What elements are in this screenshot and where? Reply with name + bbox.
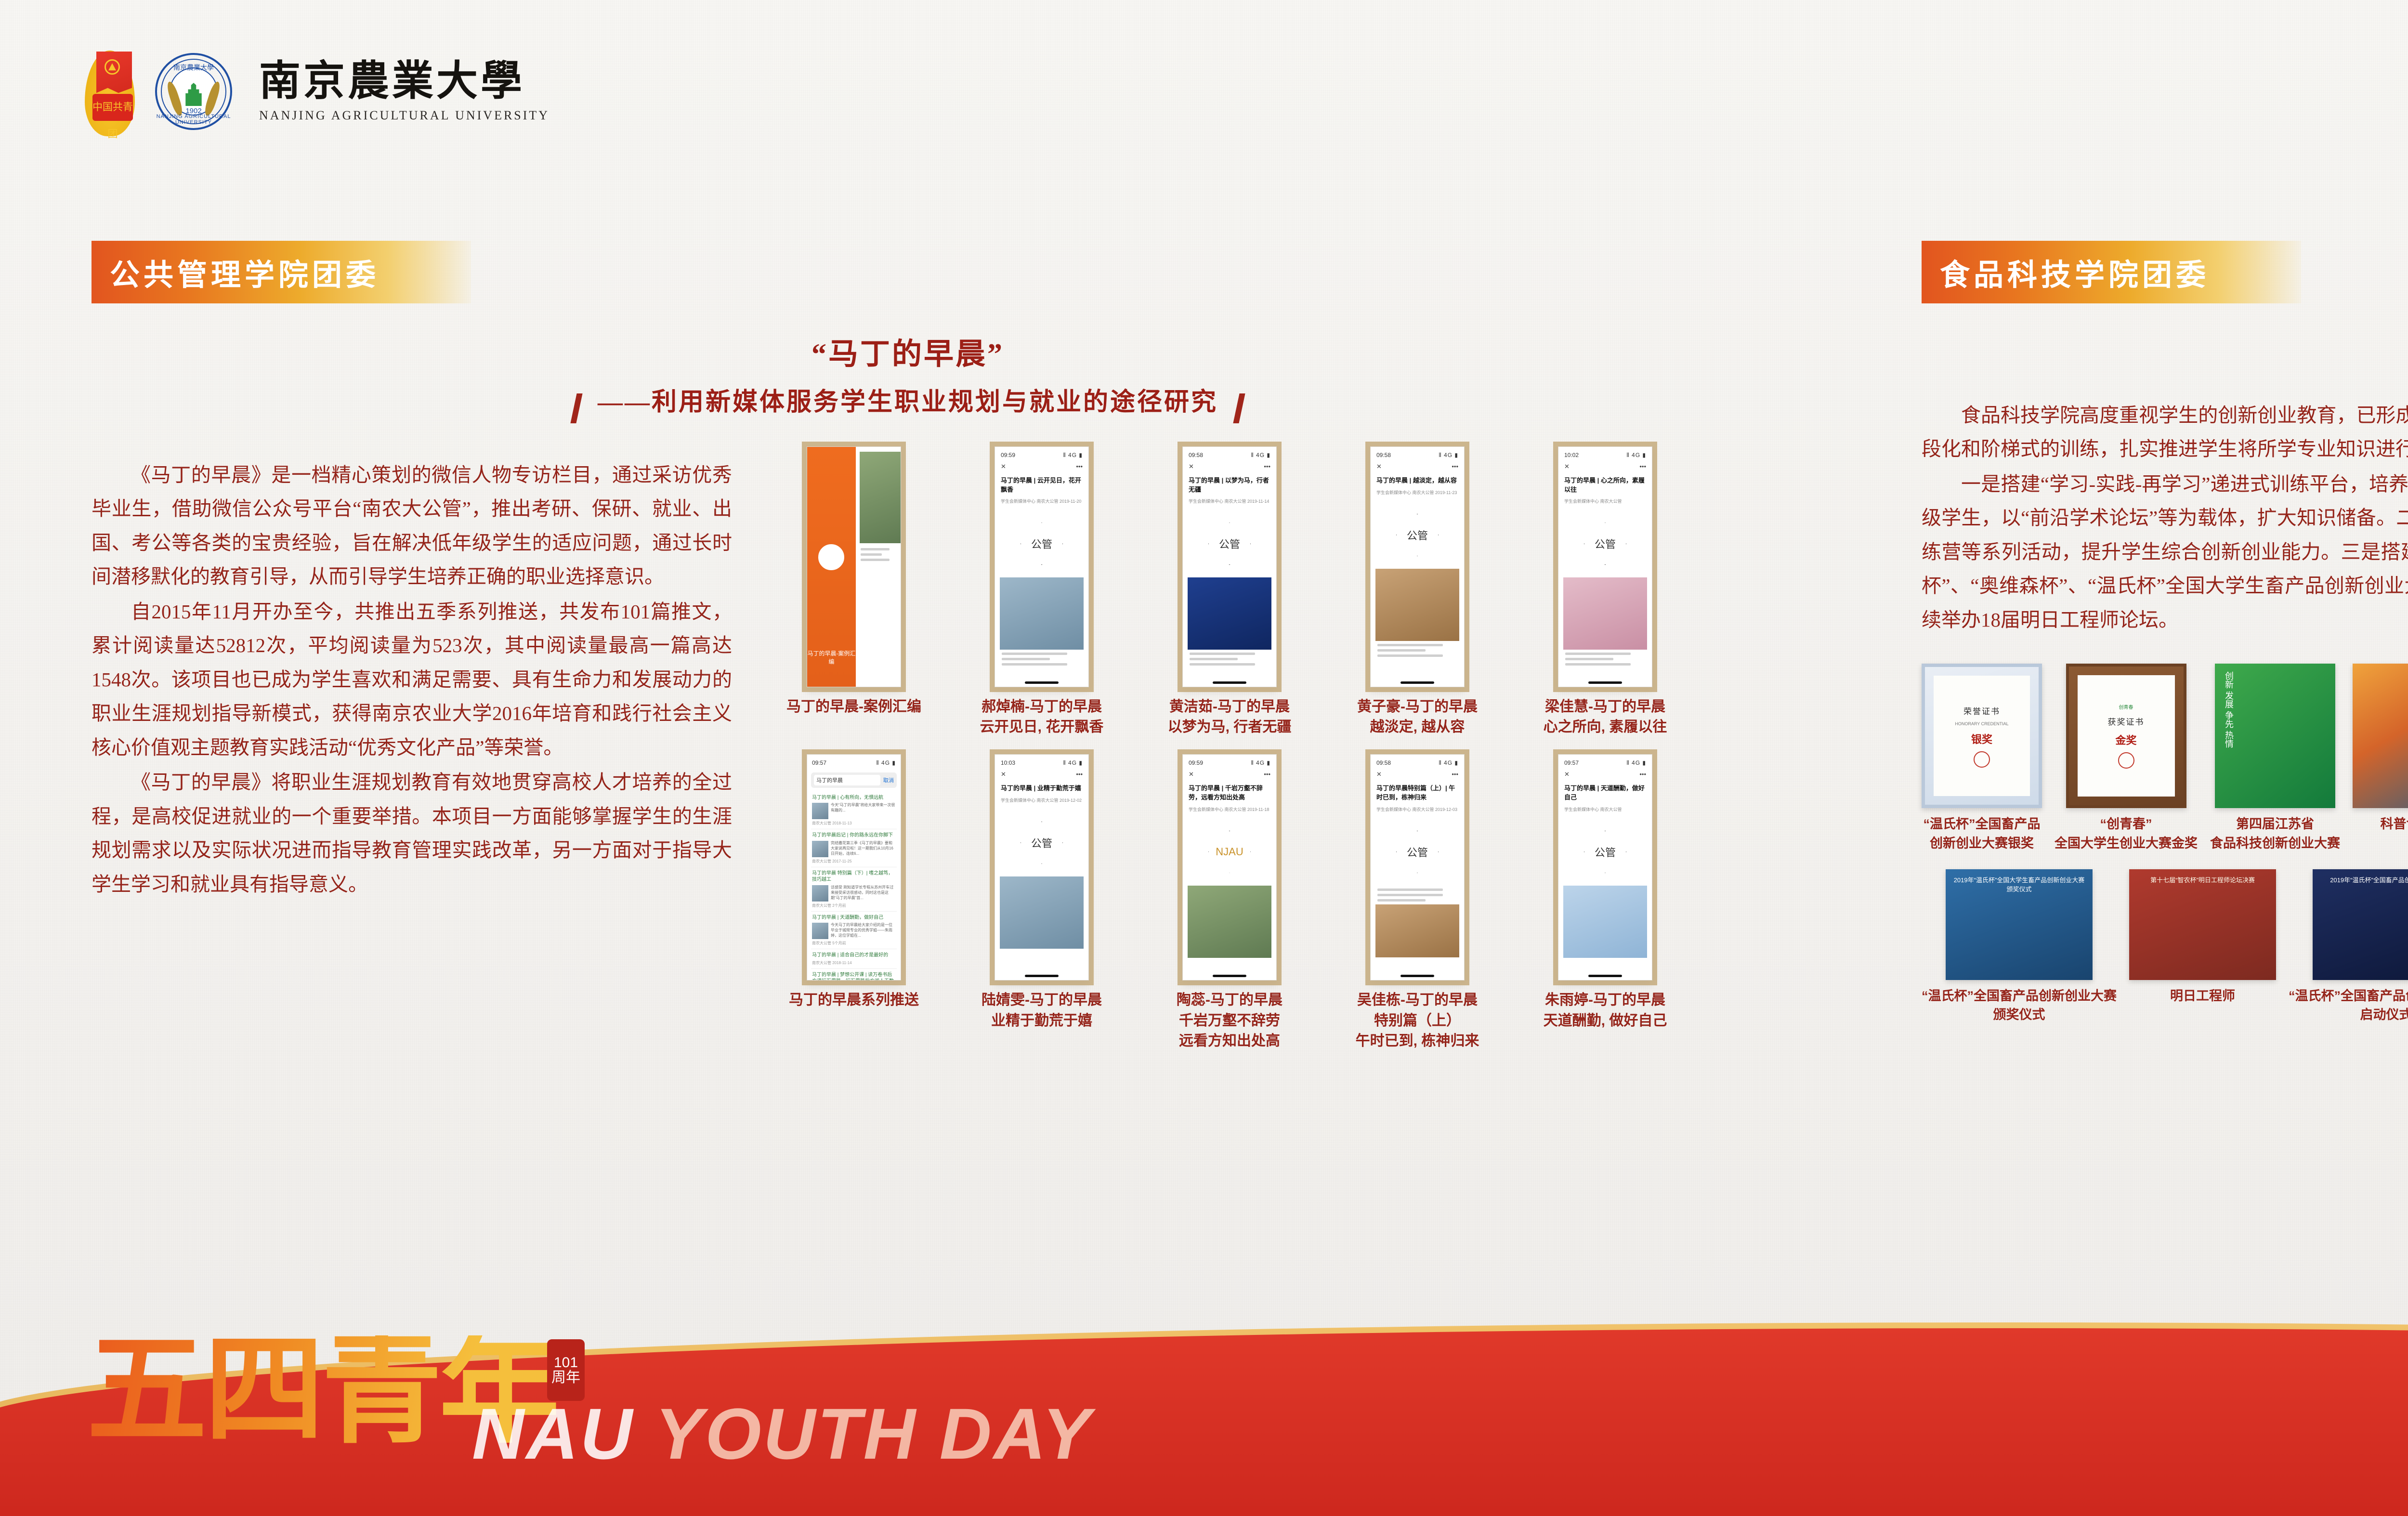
list-item-thumb [812,803,828,819]
certificate-subtitle: HONORARY CREDENTIAL [1955,721,2008,726]
article-title: 马丁的早晨 | 以梦为马，行者无疆 [1188,475,1271,498]
status-time: 10:03 [1001,759,1015,767]
article-meta: 学生会新媒体中心 南农大公管 2019-11-20 [1000,498,1084,510]
search-input[interactable]: 马丁的早晨 [814,775,880,785]
close-icon[interactable]: ✕ [1564,463,1570,470]
pic-caption: “温氏杯”全国畜产品创新创业大赛颁奖仪式 [1922,987,2117,1024]
phone-screenshot-article[interactable]: 09:58⦀ 4G ▮ ✕••• 马丁的早晨 | 以梦为马，行者无疆 学生会新媒… [1182,446,1277,687]
phone-screenshot-search-list[interactable]: 09:57⦀ 4G ▮ 马丁的早晨 取消 马丁的早晨 | 心有所向，无惧远航 今… [807,754,901,980]
shot-caption: 梁佳慧-马丁的早晨心之所向, 素履以往 [1544,697,1667,738]
signal-icon: ⦀ 4G ▮ [1626,759,1646,767]
backdrop-text: 创新 发展 争先 热情 [2215,664,2243,756]
list-item-thumb [812,923,828,939]
article-title: 马丁的早晨 | 越淡定，越从容 [1375,475,1459,489]
award-label: 银奖 [1971,731,1992,746]
status-time: 09:57 [1564,759,1579,767]
youth-day-en-dim: YOUTH DAY [655,1393,1092,1474]
right-title-block: “阶梯式”创新创业培育体系 [1922,329,2408,377]
list-item[interactable]: 马丁的早晨后记 | 你的路永远在你脚下 完结撒花第三季《马丁的早晨》要和大家说再… [811,829,897,867]
pic-cell[interactable]: 第十七届“智农杯”明日工程师论坛决赛 明日工程师 [2129,869,2276,1006]
right-paragraph: 一是搭建“学习-实践-再学习”递进式训练平台，培养双创意识。面向大一、大二的学生… [1922,467,2408,637]
home-indicator [1213,681,1246,684]
shot-cell[interactable]: 09:57⦀ 4G ▮ ✕••• 马丁的早晨 | 天道酬勤，做好自己 学生会新媒… [1511,754,1699,1031]
shot-cell[interactable]: 09:59⦀ 4G ▮ ✕••• 马丁的早晨 | 云开见日，花开飘香 学生会新媒… [948,446,1136,738]
left-gallery: 马丁的早晨-案例汇编 马丁的早晨-案例汇编 [760,438,1699,1052]
pic-caption: 明日工程师 [2170,987,2235,1006]
gongguan-logo-icon: 公管 [1000,510,1084,577]
list-item-thumb [812,841,828,857]
shot-caption: 吴佳栋-马丁的早晨特别篇（上）午时已到, 栋神归来 [1356,990,1479,1052]
home-indicator [1588,975,1622,977]
seal-top-text: 南京農業大學 [155,63,232,72]
status-time: 10:02 [1564,452,1579,459]
certificate-title: 获奖证书 [2108,715,2145,727]
backdrop-text: 2019年“温氏杯”全国大学生畜产品创新创业大赛颁奖仪式 [1946,869,2093,899]
list-item-title: 马丁的早晨 | 梦想公开课 | 读万卷书后方须行万里路，行万里路后方阅人无数 [812,972,896,980]
phone-screenshot-article[interactable]: 10:03⦀ 4G ▮ ✕••• 马丁的早晨 | 业精于勤荒于嬉 学生会新媒体中… [995,754,1089,980]
anniversary-badge: 101 周年 [547,1339,585,1401]
right-gallery: 荣誉证书 HONORARY CREDENTIAL 银奖 “温氏杯”全国畜产品创新… [1922,656,2408,1024]
stamp-icon [1974,751,1990,768]
event-photo[interactable]: 第十七届“智农杯”明日工程师论坛决赛 [2129,869,2276,980]
article-title: 马丁的早晨特别篇（上）| 午时已到，栋神归来 [1375,783,1459,806]
more-icon[interactable]: ••• [1452,771,1458,778]
list-item-title: 马丁的早晨后记 | 你的路永远在你脚下 [812,832,896,839]
phone-screenshot-article[interactable]: 09:59⦀ 4G ▮ ✕••• 马丁的早晨 | 云开见日，花开飘香 学生会新媒… [995,446,1089,687]
certificate-photo[interactable]: 创青春 获奖证书 金奖 [2066,664,2186,808]
list-item-desc: 访感受 刚知道学长专程从苏州开车过来接受采访很感动，同时这也是这期“马丁的早晨”… [831,885,896,902]
university-name-en: NANJING AGRICULTURAL UNIVERSITY [259,108,550,123]
phone-screenshot-cover[interactable]: 马丁的早晨-案例汇编 [807,446,901,687]
gongguan-logo-icon: 公管 [1375,818,1459,886]
pics-row-2: 2019年“温氏杯”全国大学生畜产品创新创业大赛颁奖仪式 “温氏杯”全国畜产品创… [1922,869,2408,1024]
article-meta: 学生会新媒体中心 南农大公管 2019-11-14 [1188,498,1271,510]
title-tick-right-icon [1233,393,1245,423]
list-item-title: 马丁的早晨 特别篇（下）| 嗜之越笃，技巧越工 [812,870,896,883]
search-cancel-button[interactable]: 取消 [883,776,894,784]
list-item-source: 南农大公管 2017-11-25 [812,859,896,864]
shot-cell[interactable]: 09:59⦀ 4G ▮ ✕••• 马丁的早晨 | 千岩万壑不辞劳，远看方知出处高… [1136,754,1323,1052]
close-icon[interactable]: ✕ [1376,463,1382,470]
phone-screenshot-article[interactable]: 09:57⦀ 4G ▮ ✕••• 马丁的早晨 | 天道酬勤，做好自己 学生会新媒… [1558,754,1652,980]
more-icon[interactable]: ••• [1264,463,1270,470]
pic-cell[interactable]: 创新 发展 争先 热情 第四届江苏省食品科技创新创业大赛 [2210,664,2340,852]
list-item-source: 南农大公管 5个月前 [812,941,896,946]
left-text-column: 《马丁的早晨》是一档精心策划的微信人物专访栏目，通过采访优秀毕业生，借助微信公众… [92,438,732,1052]
signal-icon: ⦀ 4G ▮ [1063,759,1083,767]
poster-header: 中国共青团 南京農業大學 1902 NANJING AGRICULTURAL U… [82,46,550,137]
anniversary-unit: 周年 [551,1370,580,1385]
list-item-desc: 今天“马丁的早晨”将给大家带来一次很有趣的... [831,803,896,819]
shot-caption: 朱雨婷-马丁的早晨天道酬勤, 做好自己 [1544,990,1667,1031]
shot-caption: 陶蕊-马丁的早晨千岩万壑不辞劳远看方知出处高 [1177,990,1283,1052]
stamp-icon [2118,752,2134,769]
youth-league-emblem-icon: 中国共青团 [82,46,139,137]
article-title: 马丁的早晨 | 心之所向，素履以往 [1563,475,1647,498]
status-time: 09:59 [1001,452,1015,459]
shot-cell[interactable]: 09:58⦀ 4G ▮ ✕••• 马丁的早晨 | 越淡定，越从容 学生会新媒体中… [1323,446,1511,738]
signal-icon: ⦀ 4G ▮ [1626,452,1646,459]
close-icon[interactable]: ✕ [1001,771,1006,778]
status-time: 09:58 [1376,759,1391,767]
certificate-brand: 创青春 [2119,703,2133,710]
left-paragraph: 《马丁的早晨》是一档精心策划的微信人物专访栏目，通过采访优秀毕业生，借助微信公众… [92,458,732,594]
anniversary-number: 101 [554,1355,578,1371]
list-item[interactable]: 马丁的早晨 | 梦想公开课 | 读万卷书后方须行万里路，行万里路后方阅人无数 [811,969,897,980]
close-icon[interactable]: ✕ [1189,771,1194,778]
left-title-block: “马丁的早晨” ——利用新媒体服务学生职业规划与就业的途径研究 [92,329,1724,423]
list-item-source: 南农大公管 2个月前 [812,903,896,908]
home-indicator [1400,975,1434,977]
gongguan-logo-icon: 公管 [1375,501,1459,569]
shot-caption: 马丁的早晨-案例汇编 [786,697,921,718]
pic-cell[interactable]: 创青春 获奖证书 金奖 “创青春”全国大学生创业大赛金奖 [2055,664,2198,852]
right-paragraph: 食品科技学院高度重视学生的创新创业教育，已形成了“阶梯式”创新创业培育体系，主要… [1922,398,2408,466]
article-title: 马丁的早晨 | 业精于勤荒于嬉 [1000,783,1084,797]
article-meta: 学生会新媒体中心 南农大公管 [1563,498,1647,510]
left-title-main: “马丁的早晨” [92,329,1724,373]
home-indicator [1025,681,1059,684]
list-item[interactable]: 马丁的早晨 | 天道酬勤，做好自己 今天马丁的早晨给大家介绍的是一位毕业于城规专… [811,912,897,950]
list-item-title: 马丁的早晨 | 心有所向，无惧远航 [812,795,896,801]
pics-row-1: 荣誉证书 HONORARY CREDENTIAL 银奖 “温氏杯”全国畜产品创新… [1922,664,2408,852]
list-item[interactable]: 马丁的早晨 特别篇（下）| 嗜之越笃，技巧越工 访感受 刚知道学长专程从苏州开车… [811,867,897,912]
pic-cell[interactable]: 荣誉证书 HONORARY CREDENTIAL 银奖 “温氏杯”全国畜产品创新… [1922,664,2042,852]
phone-screenshot-article[interactable]: 09:58⦀ 4G ▮ ✕••• 马丁的早晨特别篇（上）| 午时已到，栋神归来 … [1370,754,1465,980]
shot-cell[interactable]: 10:03⦀ 4G ▮ ✕••• 马丁的早晨 | 业精于勤荒于嬉 学生会新媒体中… [948,754,1136,1031]
article-title: 马丁的早晨 | 千岩万壑不辞劳，远看方知出处高 [1188,783,1271,806]
more-icon[interactable]: ••• [1639,463,1646,470]
article-meta: 学生会新媒体中心 南农大公管 2019-12-02 [1000,797,1084,809]
certificate-photo[interactable]: 荣誉证书 HONORARY CREDENTIAL 银奖 [1922,664,2042,808]
shots-row-2: 09:57⦀ 4G ▮ 马丁的早晨 取消 马丁的早晨 | 心有所向，无惧远航 今… [760,754,1699,1052]
search-bar[interactable]: 马丁的早晨 取消 [811,772,897,788]
close-icon[interactable]: ✕ [1001,463,1006,470]
article-meta: 学生会新媒体中心 南农大公管 2019-11-23 [1375,489,1459,501]
more-icon[interactable]: ••• [1076,463,1083,470]
shots-row-1: 马丁的早晨-案例汇编 马丁的早晨-案例汇编 [760,446,1699,738]
event-photo[interactable] [2353,664,2408,808]
status-time: 09:59 [1189,759,1203,767]
title-tick-left-icon [570,393,582,423]
home-indicator [1025,975,1059,977]
shot-cell[interactable]: 09:58⦀ 4G ▮ ✕••• 马丁的早晨 | 以梦为马，行者无疆 学生会新媒… [1136,446,1323,738]
right-section: 食品科技学院团委 “阶梯式”创新创业培育体系 食品科技学院高度重视学生的创新创业… [1922,241,2408,1024]
certificate-title: 荣誉证书 [1963,705,2000,717]
shot-cell[interactable]: 09:58⦀ 4G ▮ ✕••• 马丁的早晨特别篇（上）| 午时已到，栋神归来 … [1323,754,1511,1052]
award-label: 金奖 [2115,732,2136,747]
right-dept-banner: 食品科技学院团委 [1922,241,2301,303]
backdrop-text: 2019年“温氏杯”全国畜产品创新创业大赛 [2313,869,2408,890]
poster-canvas: 中国共青团 南京農業大學 1902 NANJING AGRICULTURAL U… [0,0,2408,1516]
home-indicator [1213,975,1246,977]
gongguan-logo-icon: 公管 [1563,818,1647,886]
article-meta: 学生会新媒体中心 南农大公管 2019-11-18 [1188,806,1271,818]
signal-icon: ⦀ 4G ▮ [876,759,896,767]
status-time: 09:58 [1376,452,1391,459]
signal-icon: ⦀ 4G ▮ [1251,452,1270,459]
shot-caption: 郝焯楠-马丁的早晨云开见日, 花开飘香 [980,697,1104,738]
status-time: 09:57 [812,759,826,767]
pic-caption: “创青春”全国大学生创业大赛金奖 [2055,815,2198,852]
phone-screenshot-article[interactable]: 10:02⦀ 4G ▮ ✕••• 马丁的早晨 | 心之所向，素履以往 学生会新媒… [1558,446,1652,687]
cover-label: 马丁的早晨-案例汇编 [807,649,856,666]
pic-cell[interactable]: 科普食话说 [2353,664,2408,834]
right-text-block: 食品科技学院高度重视学生的创新创业教育，已形成了“阶梯式”创新创业培育体系，主要… [1922,398,2408,637]
youth-day-logo: 五四青年 101 周年 NAU YOUTH DAY [87,1335,557,1444]
pic-caption: 第四届江苏省食品科技创新创业大赛 [2210,815,2340,852]
left-title-sub: ——利用新媒体服务学生职业规划与就业的途径研究 [598,381,1218,418]
event-photo[interactable]: 2019年“温氏杯”全国大学生畜产品创新创业大赛颁奖仪式 [1946,869,2093,980]
signal-icon: ⦀ 4G ▮ [1439,452,1458,459]
left-section: 公共管理学院团委 “马丁的早晨” ——利用新媒体服务学生职业规划与就业的途径研究… [92,241,1724,1052]
gongguan-logo-icon: 公管 [1000,809,1084,876]
phone-screenshot-article[interactable]: 09:58⦀ 4G ▮ ✕••• 马丁的早晨 | 越淡定，越从容 学生会新媒体中… [1370,446,1465,687]
home-indicator [1400,681,1434,684]
youth-day-en-bold: NAU [472,1393,634,1474]
youth-league-label: 中国共青团 [92,94,133,121]
pic-caption: “温氏杯”全国畜产品创新创业大赛银奖 [1924,815,2041,852]
more-icon[interactable]: ••• [1264,771,1270,778]
list-item-source: 南农大公管 2018-11-13 [812,821,896,826]
article-meta: 学生会新媒体中心 南农大公管 [1563,806,1647,818]
more-icon[interactable]: ••• [1452,463,1458,470]
home-indicator [1588,681,1622,684]
seal-bottom-text: NANJING AGRICULTURAL UNIVERSITY [155,114,232,125]
shot-cell[interactable]: 10:02⦀ 4G ▮ ✕••• 马丁的早晨 | 心之所向，素履以往 学生会新媒… [1511,446,1699,738]
list-item-desc: 完结撒花第三季《马丁的早晨》要和大家说再见啦！这一期我们从10月16日开始，连续… [831,841,896,857]
shot-caption: 陆婧雯-马丁的早晨业精于勤荒于嬉 [982,990,1102,1031]
list-item-title: 马丁的早晨 | 适合自己的才是最好的 [812,952,896,959]
university-name-cn: 南京農業大學 [259,60,550,103]
shot-caption: 马丁的早晨系列推送 [789,990,919,1011]
left-dept-banner: 公共管理学院团委 [92,241,471,303]
event-photo[interactable]: 创新 发展 争先 热情 [2215,664,2335,808]
more-icon[interactable]: ••• [1639,771,1646,778]
left-paragraph: 《马丁的早晨》将职业生涯规划教育有效地贯穿高校人才培养的全过程，是高校促进就业的… [92,765,732,901]
gongguan-logo-icon: 公管 [1188,510,1271,577]
signal-icon: ⦀ 4G ▮ [1439,759,1458,767]
shot-caption: 黄洁茹-马丁的早晨以梦为马, 行者无疆 [1168,697,1292,738]
signal-icon: ⦀ 4G ▮ [1063,452,1083,459]
list-item-thumb [812,885,828,902]
more-icon[interactable]: ••• [1076,771,1083,778]
list-item-source: 南农大公管 2018-11-14 [812,960,896,966]
close-icon[interactable]: ✕ [1376,771,1382,778]
article-title: 马丁的早晨 | 云开见日，花开飘香 [1000,475,1084,498]
pic-caption: “温氏杯”全国畜产品创新创业大赛启动仪式 [2289,987,2408,1024]
article-title: 马丁的早晨 | 天道酬勤，做好自己 [1563,783,1647,806]
backdrop-text: 第十七届“智农杯”明日工程师论坛决赛 [2129,869,2276,890]
gongguan-logo-icon: 公管 [1563,510,1647,577]
pic-cell[interactable]: 2019年“温氏杯”全国畜产品创新创业大赛 “温氏杯”全国畜产品创新创业大赛启动… [2289,869,2408,1024]
shot-caption: 黄子豪-马丁的早晨越淡定, 越从容 [1357,697,1478,738]
list-item-title: 马丁的早晨 | 天道酬勤，做好自己 [812,915,896,921]
shot-cell[interactable]: 马丁的早晨-案例汇编 马丁的早晨-案例汇编 [760,446,948,718]
njau-logo-icon: NJAU [1188,818,1271,886]
list-item-desc: 今天马丁的早晨给大家介绍的是一位毕业于城规专业的优秀学姐——朱雨婷，这位学姐在.… [831,923,896,939]
left-paragraph: 自2015年11月开办至今，共推出五季系列推送，共发布101篇推文，累计阅读量达… [92,595,732,765]
list-item[interactable]: 马丁的早晨 | 适合自己的才是最好的 南农大公管 2018-11-14 [811,949,897,969]
phone-screenshot-article[interactable]: 09:59⦀ 4G ▮ ✕••• 马丁的早晨 | 千岩万壑不辞劳，远看方知出处高… [1182,754,1277,980]
youth-day-en: NAU YOUTH DAY [472,1392,1092,1476]
signal-icon: ⦀ 4G ▮ [1251,759,1270,767]
pic-cell[interactable]: 2019年“温氏杯”全国大学生畜产品创新创业大赛颁奖仪式 “温氏杯”全国畜产品创… [1922,869,2117,1024]
close-icon[interactable]: ✕ [1564,771,1570,778]
article-meta: 学生会新媒体中心 南农大公管 2019-12-03 [1375,806,1459,818]
status-time: 09:58 [1189,452,1203,459]
event-photo[interactable]: 2019年“温氏杯”全国畜产品创新创业大赛 [2313,869,2408,980]
pic-caption: 科普食话说 [2381,815,2408,834]
university-name: 南京農業大學 NANJING AGRICULTURAL UNIVERSITY [259,60,550,123]
list-item[interactable]: 马丁的早晨 | 心有所向，无惧远航 今天“马丁的早晨”将给大家带来一次很有趣的.… [811,792,897,830]
close-icon[interactable]: ✕ [1189,463,1194,470]
university-seal-icon: 南京農業大學 1902 NANJING AGRICULTURAL UNIVERS… [155,53,232,130]
shot-cell[interactable]: 09:57⦀ 4G ▮ 马丁的早晨 取消 马丁的早晨 | 心有所向，无惧远航 今… [760,754,948,1011]
